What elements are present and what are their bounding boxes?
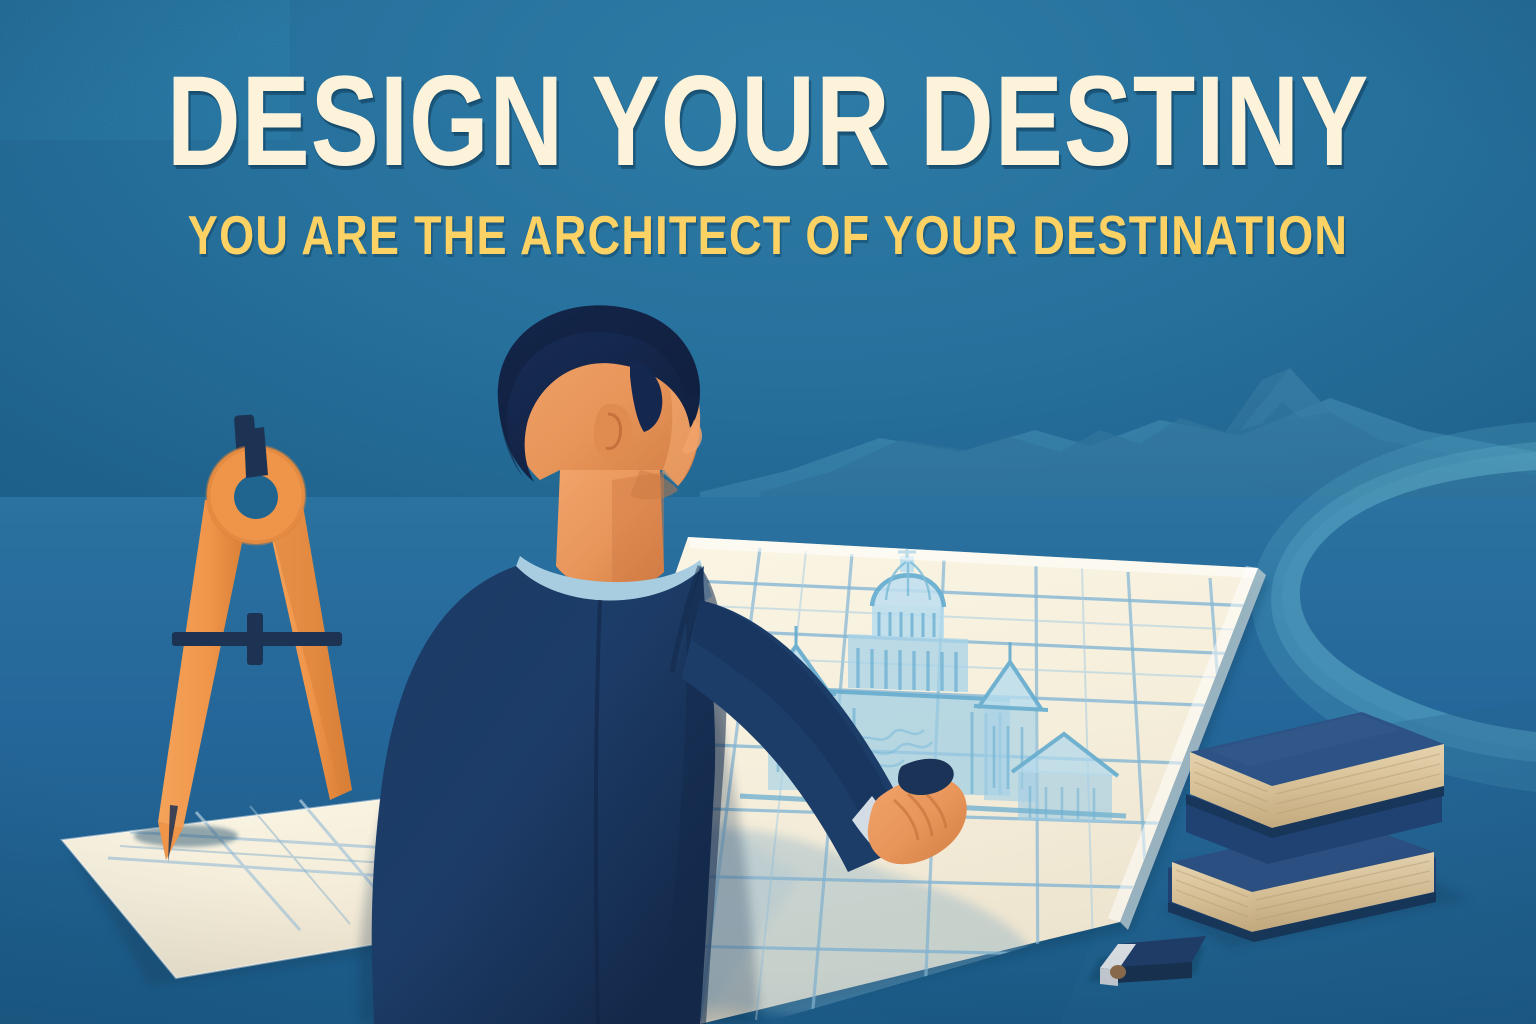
page-title: DESIGN YOUR DESTINY xyxy=(154,58,1383,186)
page-subtitle: YOU ARE THE ARCHITECT OF YOUR DESTINATIO… xyxy=(138,208,1398,263)
headline-block: DESIGN YOUR DESTINY YOU ARE THE ARCHITEC… xyxy=(0,58,1536,263)
poster-canvas: DESIGN YOUR DESTINY YOU ARE THE ARCHITEC… xyxy=(0,0,1536,1024)
